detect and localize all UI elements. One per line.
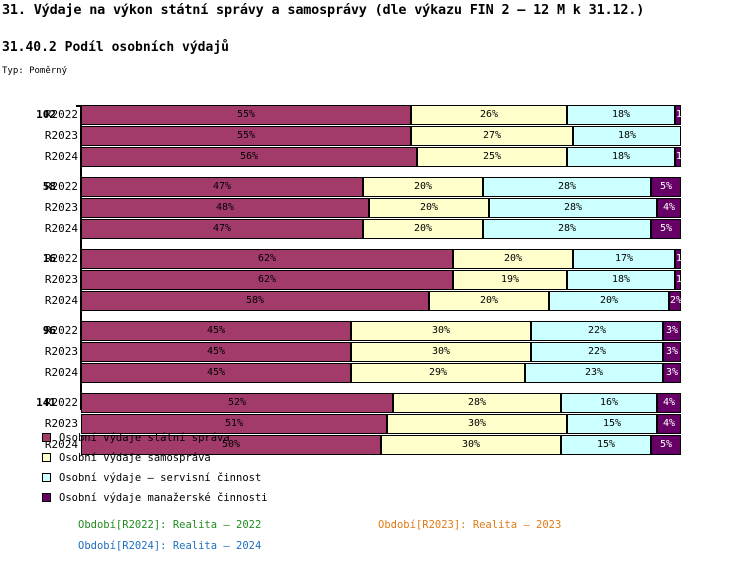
bar-segment: 1% bbox=[675, 147, 681, 167]
bar-segment-label: 20% bbox=[454, 250, 572, 268]
bar-row: R202362%19%18%1% bbox=[0, 270, 750, 290]
bar-segment-label: 58% bbox=[82, 292, 428, 310]
bar-segment: 18% bbox=[567, 147, 675, 167]
bar-segment: 55% bbox=[81, 126, 411, 146]
bar-segment: 62% bbox=[81, 249, 453, 269]
bar-segment: 1% bbox=[675, 105, 681, 125]
bar-segment: 16% bbox=[561, 393, 657, 413]
bar-segment: 18% bbox=[573, 126, 681, 146]
bar-segment-label: 18% bbox=[568, 271, 674, 289]
bar-segment-label: 5% bbox=[652, 220, 680, 238]
bar-segment-label: 19% bbox=[454, 271, 566, 289]
bar-segment-label: 1% bbox=[676, 106, 680, 124]
bar-segment: 55% bbox=[81, 105, 411, 125]
legend-swatch-icon bbox=[42, 473, 51, 482]
legend-swatch-icon bbox=[42, 453, 51, 462]
bar-segment: 19% bbox=[453, 270, 567, 290]
bar-segment-label: 28% bbox=[490, 199, 656, 217]
bar-segment: 1% bbox=[675, 249, 681, 269]
bar-segment: 3% bbox=[663, 321, 681, 341]
bar-segment-label: 23% bbox=[526, 364, 662, 382]
bar-segment: 20% bbox=[429, 291, 549, 311]
bar-segment-label: 18% bbox=[574, 127, 680, 145]
bar-segment-label: 28% bbox=[484, 220, 650, 238]
bar-row: 141R202252%28%16%4% bbox=[0, 393, 750, 413]
bar-segment: 45% bbox=[81, 321, 351, 341]
bar-segment-label: 27% bbox=[412, 127, 572, 145]
legend-label: Osobní výdaje – servisní činnost bbox=[59, 472, 261, 484]
bar-track: 47%20%28%5% bbox=[81, 177, 681, 197]
bar-segment-label: 47% bbox=[82, 220, 362, 238]
legend-label: Osobní výdaje samospráva bbox=[59, 452, 211, 464]
bar-row-label: R2023 bbox=[40, 344, 78, 360]
bar-segment-label: 15% bbox=[562, 436, 650, 454]
bar-segment-label: 55% bbox=[82, 106, 410, 124]
legend-swatch-icon bbox=[42, 493, 51, 502]
bar-segment: 47% bbox=[81, 177, 363, 197]
page-title: 31. Výdaje na výkon státní správy a samo… bbox=[2, 2, 644, 18]
bar-segment-label: 20% bbox=[430, 292, 548, 310]
bar-row: R202355%27%18% bbox=[0, 126, 750, 146]
bar-row-label: R2023 bbox=[40, 128, 78, 144]
bar-segment-label: 1% bbox=[676, 250, 680, 268]
bar-segment: 48% bbox=[81, 198, 369, 218]
bar-track: 47%20%28%5% bbox=[81, 219, 681, 239]
bar-row-label: R2024 bbox=[40, 149, 78, 165]
bar-segment: 28% bbox=[483, 177, 651, 197]
bar-segment: 28% bbox=[489, 198, 657, 218]
bar-row: 58R202247%20%28%5% bbox=[0, 177, 750, 197]
bar-segment-label: 48% bbox=[82, 199, 368, 217]
chart-plot-area: 102R202255%26%18%1%R202355%27%18%R202456… bbox=[0, 105, 750, 410]
bar-segment: 4% bbox=[657, 414, 681, 434]
legend-item[interactable]: Osobní výdaje manažerské činnosti bbox=[42, 488, 442, 508]
bar-track: 52%28%16%4% bbox=[81, 393, 681, 413]
bar-segment: 18% bbox=[567, 270, 675, 290]
chart-legend: Osobní výdaje státní správaOsobní výdaje… bbox=[42, 428, 442, 508]
bar-segment: 47% bbox=[81, 219, 363, 239]
bar-segment-label: 4% bbox=[658, 415, 680, 433]
bar-segment-label: 25% bbox=[418, 148, 566, 166]
bar-segment-label: 30% bbox=[352, 322, 530, 340]
bar-row: 16R202262%20%17%1% bbox=[0, 249, 750, 269]
bar-row-label: R2022 bbox=[40, 107, 78, 123]
bar-segment-label: 45% bbox=[82, 322, 350, 340]
bar-row: R202445%29%23%3% bbox=[0, 363, 750, 383]
bar-segment: 20% bbox=[453, 249, 573, 269]
bar-segment: 27% bbox=[411, 126, 573, 146]
bar-segment: 17% bbox=[573, 249, 675, 269]
bar-segment: 3% bbox=[663, 342, 681, 362]
bar-segment-label: 56% bbox=[82, 148, 416, 166]
bar-track: 56%25%18%1% bbox=[81, 147, 681, 167]
bar-segment-label: 22% bbox=[532, 343, 662, 361]
bar-segment: 20% bbox=[363, 219, 483, 239]
bar-segment-label: 62% bbox=[82, 250, 452, 268]
bar-segment-label: 4% bbox=[658, 394, 680, 412]
legend-swatch-icon bbox=[42, 433, 51, 442]
chart-type-label: Typ: Poměrný bbox=[2, 66, 67, 76]
bar-segment-label: 55% bbox=[82, 127, 410, 145]
bar-track: 62%19%18%1% bbox=[81, 270, 681, 290]
bar-segment-label: 2% bbox=[670, 292, 680, 310]
bar-track: 45%29%23%3% bbox=[81, 363, 681, 383]
bar-segment-label: 1% bbox=[676, 148, 680, 166]
bar-row-label: R2022 bbox=[40, 395, 78, 411]
bar-row: R202345%30%22%3% bbox=[0, 342, 750, 362]
bar-segment-label: 26% bbox=[412, 106, 566, 124]
bar-track: 55%27%18% bbox=[81, 126, 681, 146]
bar-segment: 52% bbox=[81, 393, 393, 413]
bar-segment: 23% bbox=[525, 363, 663, 383]
bar-row: 102R202255%26%18%1% bbox=[0, 105, 750, 125]
bar-segment-label: 28% bbox=[394, 394, 560, 412]
legend-item[interactable]: Osobní výdaje samospráva bbox=[42, 448, 442, 468]
bar-row-label: R2024 bbox=[40, 221, 78, 237]
bar-segment: 4% bbox=[657, 198, 681, 218]
bar-segment-label: 16% bbox=[562, 394, 656, 412]
legend-item[interactable]: Osobní výdaje státní správa bbox=[42, 428, 442, 448]
bar-segment: 22% bbox=[531, 342, 663, 362]
bar-segment-label: 17% bbox=[574, 250, 674, 268]
bar-segment: 45% bbox=[81, 342, 351, 362]
period-note-r2023: Období[R2023]: Realita – 2023 bbox=[378, 519, 561, 531]
bar-track: 58%20%20%2% bbox=[81, 291, 681, 311]
bar-segment-label: 22% bbox=[532, 322, 662, 340]
bar-row-label: R2024 bbox=[40, 293, 78, 309]
bar-row-label: R2022 bbox=[40, 251, 78, 267]
bar-segment: 20% bbox=[363, 177, 483, 197]
bar-segment-label: 20% bbox=[550, 292, 668, 310]
bar-segment: 56% bbox=[81, 147, 417, 167]
bar-segment-label: 28% bbox=[484, 178, 650, 196]
legend-label: Osobní výdaje státní správa bbox=[59, 432, 230, 444]
period-note-r2022: Období[R2022]: Realita – 2022 bbox=[78, 519, 261, 531]
bar-segment-label: 15% bbox=[568, 415, 656, 433]
period-note-r2024: Období[R2024]: Realita – 2024 bbox=[78, 540, 261, 552]
bar-row-label: R2024 bbox=[40, 365, 78, 381]
bar-segment: 15% bbox=[561, 435, 651, 455]
bar-segment: 15% bbox=[567, 414, 657, 434]
bar-segment-label: 18% bbox=[568, 148, 674, 166]
bar-segment-label: 3% bbox=[664, 343, 680, 361]
bar-row-label: R2023 bbox=[40, 200, 78, 216]
bar-track: 45%30%22%3% bbox=[81, 342, 681, 362]
bar-row: R202447%20%28%5% bbox=[0, 219, 750, 239]
bar-segment-label: 3% bbox=[664, 322, 680, 340]
bar-segment: 30% bbox=[351, 321, 531, 341]
bar-segment: 3% bbox=[663, 363, 681, 383]
bar-segment: 20% bbox=[369, 198, 489, 218]
period-notes: Období[R2022]: Realita – 2022 Období[R20… bbox=[0, 519, 750, 569]
bar-row-label: R2022 bbox=[40, 323, 78, 339]
bar-segment: 1% bbox=[675, 270, 681, 290]
bar-track: 62%20%17%1% bbox=[81, 249, 681, 269]
bar-segment: 45% bbox=[81, 363, 351, 383]
bar-segment-label: 5% bbox=[652, 436, 680, 454]
bar-segment-label: 45% bbox=[82, 364, 350, 382]
bar-segment-label: 20% bbox=[370, 199, 488, 217]
bar-segment: 28% bbox=[393, 393, 561, 413]
bar-row: 96R202245%30%22%3% bbox=[0, 321, 750, 341]
bar-segment-label: 30% bbox=[352, 343, 530, 361]
bar-row-label: R2022 bbox=[40, 179, 78, 195]
bar-segment: 2% bbox=[669, 291, 681, 311]
bar-segment-label: 5% bbox=[652, 178, 680, 196]
bar-track: 45%30%22%3% bbox=[81, 321, 681, 341]
bar-segment-label: 29% bbox=[352, 364, 524, 382]
bar-track: 48%20%28%4% bbox=[81, 198, 681, 218]
bar-segment: 5% bbox=[651, 435, 681, 455]
chart-subtitle: 31.40.2 Podíl osobních výdajů bbox=[2, 40, 229, 55]
bar-segment-label: 62% bbox=[82, 271, 452, 289]
bar-row-label: R2023 bbox=[40, 272, 78, 288]
bar-segment: 26% bbox=[411, 105, 567, 125]
bar-segment-label: 45% bbox=[82, 343, 350, 361]
bar-segment-label: 1% bbox=[676, 271, 680, 289]
bar-segment: 5% bbox=[651, 177, 681, 197]
bar-segment: 30% bbox=[351, 342, 531, 362]
bar-segment-label: 4% bbox=[658, 199, 680, 217]
bar-segment-label: 52% bbox=[82, 394, 392, 412]
bar-segment: 62% bbox=[81, 270, 453, 290]
bar-segment-label: 20% bbox=[364, 178, 482, 196]
bar-segment: 29% bbox=[351, 363, 525, 383]
bar-segment: 22% bbox=[531, 321, 663, 341]
legend-label: Osobní výdaje manažerské činnosti bbox=[59, 492, 268, 504]
bar-segment-label: 18% bbox=[568, 106, 674, 124]
bar-row: R202458%20%20%2% bbox=[0, 291, 750, 311]
bar-row: R202456%25%18%1% bbox=[0, 147, 750, 167]
bar-segment-label: 20% bbox=[364, 220, 482, 238]
bar-row: R202348%20%28%4% bbox=[0, 198, 750, 218]
bar-segment-label: 47% bbox=[82, 178, 362, 196]
bar-segment: 4% bbox=[657, 393, 681, 413]
bar-track: 55%26%18%1% bbox=[81, 105, 681, 125]
bar-segment: 5% bbox=[651, 219, 681, 239]
bar-segment: 20% bbox=[549, 291, 669, 311]
bar-segment: 58% bbox=[81, 291, 429, 311]
legend-item[interactable]: Osobní výdaje – servisní činnost bbox=[42, 468, 442, 488]
bar-segment: 25% bbox=[417, 147, 567, 167]
bar-segment: 18% bbox=[567, 105, 675, 125]
bar-segment-label: 3% bbox=[664, 364, 680, 382]
bar-segment: 28% bbox=[483, 219, 651, 239]
